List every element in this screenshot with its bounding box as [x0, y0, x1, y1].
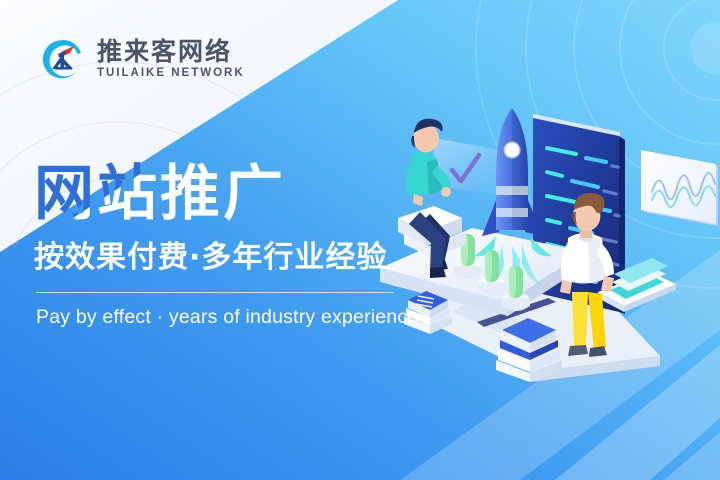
subtitle-cn: 按效果付费·多年行业经验	[34, 238, 454, 278]
tuilaike-circular-swoosh-logo	[38, 34, 88, 84]
divider-rule	[36, 292, 394, 293]
chart-card	[641, 150, 718, 226]
promo-banner: 推来客网络 TUILAIKE NETWORK 网站推广 网站推广 按效果付费·多…	[0, 0, 720, 480]
logo-name-en: TUILAIKE NETWORK	[97, 68, 245, 80]
logo-wordmark: 推来客网络 TUILAIKE NETWORK	[97, 39, 245, 80]
brand-logo[interactable]: 推来客网络 TUILAIKE NETWORK	[38, 34, 245, 84]
logo-name-cn: 推来客网络	[97, 39, 245, 64]
page-title: 网站推广 网站推广	[34, 160, 454, 232]
tagline-en: Pay by effect · years of industry experi…	[36, 305, 454, 329]
headline-block: 网站推广 网站推广 按效果付费·多年行业经验 Pay by effect · y…	[34, 160, 454, 329]
